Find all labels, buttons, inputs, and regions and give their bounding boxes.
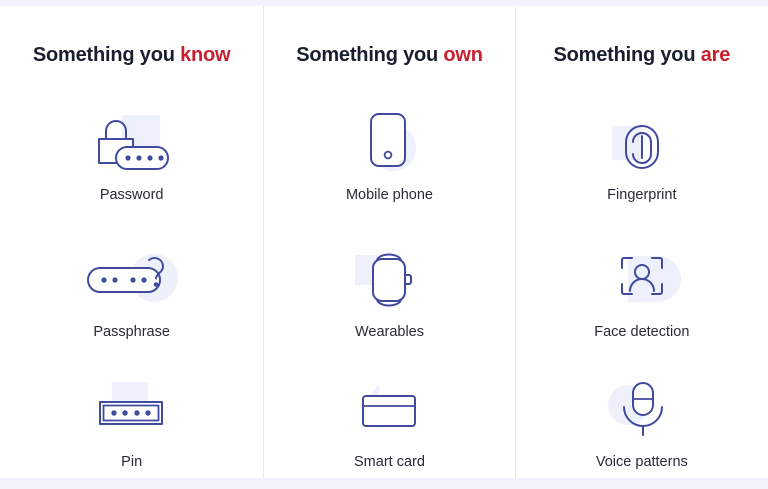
column-heading-are: Something you are [516,6,768,67]
list-item-face-detection[interactable]: Face detection [516,244,768,341]
list-item-label: Wearables [264,324,514,341]
microphone-voice-icon [516,374,768,446]
list-item-label: Fingerprint [516,187,768,204]
list-item-fingerprint[interactable]: Fingerprint [516,107,768,204]
face-detection-icon [516,244,768,316]
list-item-label: Smart card [264,454,514,471]
column-heading-own: Something you own [264,6,514,67]
column-something-you-know: Something you know Password [0,6,263,478]
factor-list-know: Password Passphrase [0,107,263,471]
list-item-password[interactable]: Password [0,107,263,204]
factor-list-are: Fingerprint Face detection [516,107,768,471]
mobile-phone-icon [264,107,514,179]
smart-card-icon [264,374,514,446]
heading-accent-know: know [180,44,230,66]
list-item-label: Pin [0,454,263,471]
column-something-you-own: Something you own Mobile phone [264,6,514,478]
list-item-passphrase[interactable]: Passphrase [0,244,263,341]
heading-prefix: Something you [296,44,443,66]
list-item-label: Mobile phone [264,187,514,204]
heading-prefix: Something you [33,44,180,66]
heading-accent-are: are [701,44,730,66]
fingerprint-icon [516,107,768,179]
list-item-label: Password [0,187,263,204]
list-item-smart-card[interactable]: Smart card [264,374,514,471]
smartwatch-icon [264,244,514,316]
heading-accent-own: own [443,44,482,66]
padlock-password-icon [0,107,263,179]
column-heading-know: Something you know [0,6,263,67]
list-item-wearables[interactable]: Wearables [264,244,514,341]
pin-keypad-icon [0,374,263,446]
passphrase-question-icon [0,244,263,316]
column-something-you-are: Something you are Fingerprint [516,6,768,478]
list-item-voice-patterns[interactable]: Voice patterns [516,374,768,471]
list-item-label: Voice patterns [516,454,768,471]
factor-list-own: Mobile phone Wearables [264,107,514,471]
authentication-factors-board: Something you know Password [0,0,768,489]
list-item-mobile-phone[interactable]: Mobile phone [264,107,514,204]
heading-prefix: Something you [554,44,701,66]
list-item-pin[interactable]: Pin [0,374,263,471]
list-item-label: Face detection [516,324,768,341]
list-item-label: Passphrase [0,324,263,341]
